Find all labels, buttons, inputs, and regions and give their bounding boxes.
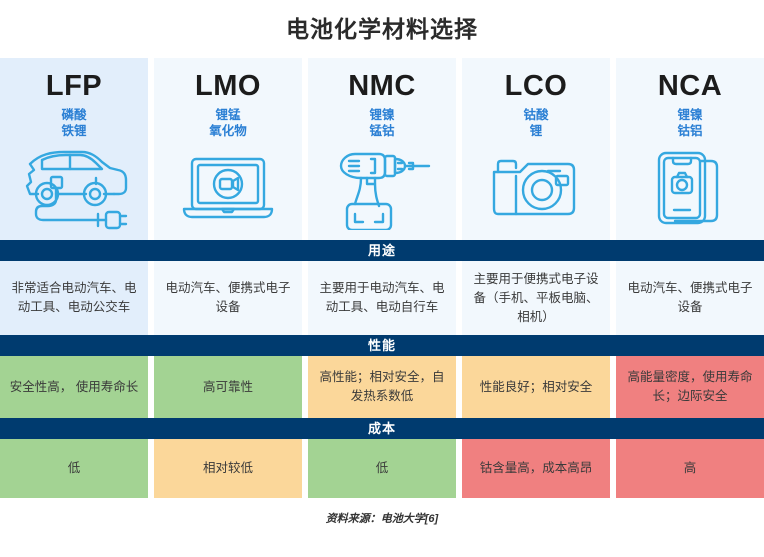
section-header-cost: 成本 xyxy=(0,418,764,439)
page-title: 电池化学材料选择 xyxy=(0,0,764,58)
cost-cell-lmo: 相对较低 xyxy=(154,439,302,498)
battery-column-nmc: NMC 锂镍 锰钴 xyxy=(308,58,456,240)
performance-cell-lmo: 高可靠性 xyxy=(154,356,302,418)
usage-cell-nmc: 主要用于电动汽车、电动工具、电动自行车 xyxy=(308,261,456,335)
battery-type-header-row: LFP 磷酸 铁锂 xyxy=(0,58,764,240)
source-note: 资料来源：电池大学[6] xyxy=(0,498,764,526)
performance-cell-nmc: 高性能；相对安全，自发热系数低 xyxy=(308,356,456,418)
usage-cell-lmo: 电动汽车、便携式电子设备 xyxy=(154,261,302,335)
battery-abbr-nmc: NMC xyxy=(348,70,416,103)
performance-cell-lco: 性能良好；相对安全 xyxy=(462,356,610,418)
performance-row: 安全性高， 使用寿命长 高可靠性 高性能；相对安全，自发热系数低 性能良好；相对… xyxy=(0,356,764,418)
cost-cell-lco: 钴含量高，成本高昂 xyxy=(462,439,610,498)
battery-chemistry-lco: 钴酸 锂 xyxy=(523,107,548,139)
camera-icon xyxy=(462,139,610,240)
battery-abbr-lfp: LFP xyxy=(46,70,102,103)
usage-cell-nca: 电动汽车、便携式电子设备 xyxy=(616,261,764,335)
battery-column-nca: NCA 锂镍 钴铝 xyxy=(616,58,764,240)
battery-chemistry-lfp: 磷酸 铁锂 xyxy=(61,107,86,139)
laptop-icon xyxy=(154,139,302,240)
battery-chemistry-lmo: 锂锰 氧化物 xyxy=(209,107,247,139)
battery-abbr-nca: NCA xyxy=(658,70,722,103)
section-header-usage: 用途 xyxy=(0,240,764,261)
battery-column-lco: LCO 钴酸 锂 xyxy=(462,58,610,240)
smartphone-icon xyxy=(616,139,764,240)
battery-chemistry-nmc: 锂镍 锰钴 xyxy=(369,107,394,139)
usage-cell-lco: 主要用于便携式电子设备（手机、平板电脑、相机） xyxy=(462,261,610,335)
battery-abbr-lmo: LMO xyxy=(195,70,261,103)
cost-row: 低 相对较低 低 钴含量高，成本高昂 高 xyxy=(0,439,764,498)
section-header-performance: 性能 xyxy=(0,335,764,356)
battery-chemistry-nca: 锂镍 钴铝 xyxy=(677,107,702,139)
comparison-table: LFP 磷酸 铁锂 xyxy=(0,58,764,498)
battery-abbr-lco: LCO xyxy=(505,70,568,103)
cost-cell-lfp: 低 xyxy=(0,439,148,498)
performance-cell-nca: 高能量密度，使用寿命长；边际安全 xyxy=(616,356,764,418)
performance-cell-lfp: 安全性高， 使用寿命长 xyxy=(0,356,148,418)
electric-car-icon xyxy=(0,139,148,240)
power-drill-icon xyxy=(308,139,456,240)
battery-column-lmo: LMO 锂锰 氧化物 xyxy=(154,58,302,240)
cost-cell-nmc: 低 xyxy=(308,439,456,498)
usage-row: 非常适合电动汽车、电动工具、电动公交车 电动汽车、便携式电子设备 主要用于电动汽… xyxy=(0,261,764,335)
battery-column-lfp: LFP 磷酸 铁锂 xyxy=(0,58,148,240)
infographic-page: 电池化学材料选择 LFP 磷酸 铁锂 xyxy=(0,0,764,557)
cost-cell-nca: 高 xyxy=(616,439,764,498)
usage-cell-lfp: 非常适合电动汽车、电动工具、电动公交车 xyxy=(0,261,148,335)
